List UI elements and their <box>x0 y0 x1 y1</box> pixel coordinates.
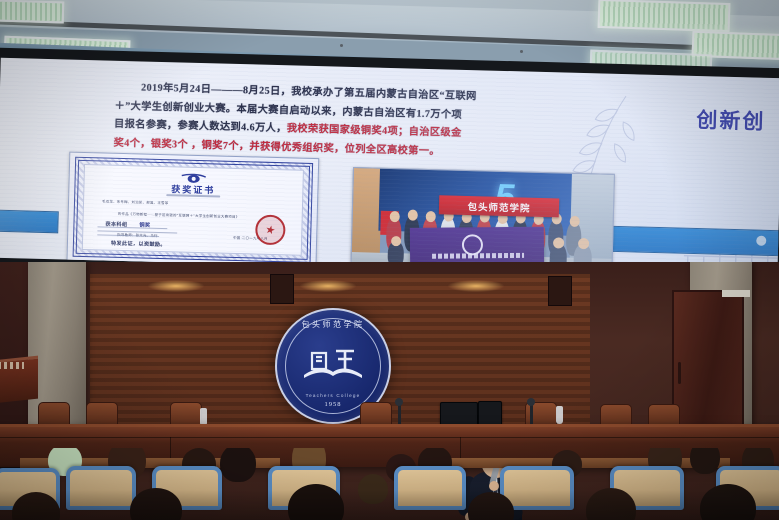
projection-screen: 2019年5月24日———8月25日，我校承办了第五届内蒙古自治区“互联网 ＋”… <box>0 58 779 278</box>
photo-red-banner-text: 包头师范学院 <box>467 199 530 215</box>
photo-flag-text <box>432 253 524 259</box>
door-handle[interactable] <box>678 362 681 384</box>
audience-head <box>690 448 720 474</box>
certificate-title-underline <box>166 194 220 197</box>
certificate-names: 毛双龙、朱冬梅、刘治凯、郝昊、王雪菲 <box>102 198 169 205</box>
slide-text-line-3-red: 我校荣获国家级铜奖4项；自治区级金 <box>287 123 462 139</box>
wall-warm-light-glow <box>148 280 204 292</box>
wall-warm-light-glow <box>448 280 504 292</box>
blue-accent-bar-left <box>0 209 59 233</box>
ceiling-light-panel-2 <box>598 0 731 32</box>
emblem-english-name: Teachers College <box>306 393 361 398</box>
projection-screen-frame: 2019年5月24日———8月25日，我校承办了第五届内蒙古自治区“互联网 ＋”… <box>0 48 779 291</box>
stage-chair <box>38 402 70 426</box>
photo-left-wall <box>352 168 382 255</box>
slide-text-line-3-black: 目报名参赛，参赛人数达到4.6万人， <box>114 119 287 135</box>
table-edge-line <box>0 437 779 438</box>
ceiling-light-panel-1 <box>0 0 64 23</box>
certificate-fineprint-1 <box>97 226 167 229</box>
wall-sign <box>722 290 750 297</box>
photo-red-banner: 包头师范学院 <box>439 195 559 217</box>
slide-body-text: 2019年5月24日———8月25日，我校承办了第五届内蒙古自治区“互联网 ＋”… <box>113 79 545 164</box>
stage-chair <box>360 402 392 426</box>
stage-chair <box>170 402 202 426</box>
ceiling-fixture-dot <box>340 44 343 47</box>
audience-area <box>0 448 779 520</box>
certificate-issue-note: 特发此证，以资鼓励。 <box>111 240 166 248</box>
ceiling-speaker-right <box>548 276 572 306</box>
audience-shadow <box>0 490 779 520</box>
desk-microphone-stand <box>398 404 401 424</box>
certificate-work: 的作品《万物新程——基于区块链的“互联网＋”大学生创新创业大赛项目》 <box>118 211 240 219</box>
certificate-red-seal <box>255 215 286 246</box>
desk-microphone-head <box>395 398 403 406</box>
blue-accent-bar-right <box>600 226 779 257</box>
desk-microphone-head <box>527 398 535 406</box>
photo-flag-emblem-icon <box>462 234 483 255</box>
lecture-hall-photo: 2019年5月24日———8月25日，我校承办了第五届内蒙古自治区“互联网 ＋”… <box>0 0 779 520</box>
emblem-year: 1958 <box>325 401 342 408</box>
audience-head <box>220 448 256 482</box>
stage-chair <box>86 402 118 426</box>
ceiling-fixture-dot <box>520 50 523 53</box>
award-certificate-image: 获奖证书 毛双龙、朱冬梅、刘治凯、郝昊、王雪菲 的作品《万物新程——基于区块链的… <box>66 152 319 269</box>
slide-heading-right: 创新创 <box>696 104 766 136</box>
wall-warm-light-glow <box>300 280 356 292</box>
presenter-laptop <box>440 402 478 426</box>
certificate-inner-panel: 获奖证书 毛双龙、朱冬梅、刘治凯、郝昊、王雪菲 的作品《万物新程——基于区块链的… <box>82 164 304 256</box>
hall-door[interactable] <box>672 290 744 444</box>
open-book-icon <box>302 347 364 381</box>
desk-microphone-stand <box>530 404 533 424</box>
water-bottle <box>556 406 563 424</box>
lectern-nameplate <box>0 362 24 369</box>
ceiling-speaker-left <box>270 274 294 304</box>
emblem-chinese-name: 包头师范学院 <box>302 319 365 330</box>
